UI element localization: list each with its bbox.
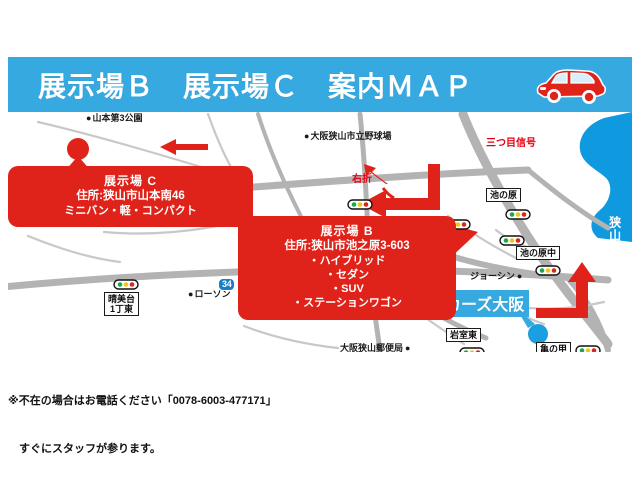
map-page: 展示場Ｂ 展示場Ｃ 案内ＭＡＰ: [0, 0, 640, 480]
callout-hall-c-address: 住所:狭山市山本南46: [14, 189, 247, 204]
callout-hall-c-items: ミニバン・軽・コンパクト: [14, 204, 247, 218]
callout-hall-b-item-3: ・ステーションワゴン: [244, 296, 450, 310]
annotation-turn-right: 右折: [352, 170, 372, 185]
note-line-1: ※不在の場合はお電話ください「0078-6003-477171」: [8, 394, 277, 410]
callout-hall-b: 展示場 B 住所:狭山市池之原3-603 ・ハイブリッド ・セダン ・SUV ・…: [238, 216, 456, 320]
poi-label-post-office: 大阪狭山郵便局: [340, 344, 410, 352]
callout-hall-b-item-0: ・ハイブリッド: [244, 254, 450, 268]
intersection-kamenoko: 亀の甲: [536, 342, 571, 352]
poi-label-baseball-stadium: 大阪狭山市立野球場: [304, 132, 391, 142]
intersection-iwamuro-higashi: 岩室東: [446, 328, 481, 342]
intersection-harumidai-1chohigashi: 晴美台 1丁東: [104, 292, 139, 316]
contact-note: ※不在の場合はお電話ください「0078-6003-477171」 すぐにスタッフ…: [8, 362, 277, 480]
intersection-ikenohara-naka: 池の原中: [516, 246, 560, 260]
callout-hall-b-item-2: ・SUV: [244, 282, 450, 296]
callout-hall-c-title: 展示場 C: [14, 174, 247, 189]
callout-hall-b-title: 展示場 B: [244, 224, 450, 239]
callout-hall-c: 展示場 C 住所:狭山市山本南46 ミニバン・軽・コンパクト: [8, 166, 253, 227]
intersection-ikenohara: 池の原: [486, 188, 521, 202]
annotation-third-signal: 三つ目信号: [486, 134, 536, 149]
arrow-left-park: [160, 139, 208, 155]
red-car-icon: [532, 63, 610, 107]
callout-hall-b-address: 住所:狭山市池之原3-603: [244, 239, 450, 254]
poi-label-lawson: ローソン: [188, 290, 230, 300]
page-title: 展示場Ｂ 展示場Ｃ 案内ＭＡＰ: [38, 65, 473, 105]
poi-label-joshin: ジョーシン: [470, 272, 522, 282]
sayama-pond-label: 狭山池: [608, 216, 621, 255]
note-line-2: すぐにスタッフが参ります。: [8, 442, 277, 458]
callout-hall-b-item-1: ・セダン: [244, 268, 450, 282]
poi-label-yamamoto-3rd-park: 山本第3公園: [86, 114, 142, 124]
route-shield-34: 34: [218, 278, 235, 291]
header-banner: 展示場Ｂ 展示場Ｃ 案内ＭＡＰ: [8, 57, 632, 112]
